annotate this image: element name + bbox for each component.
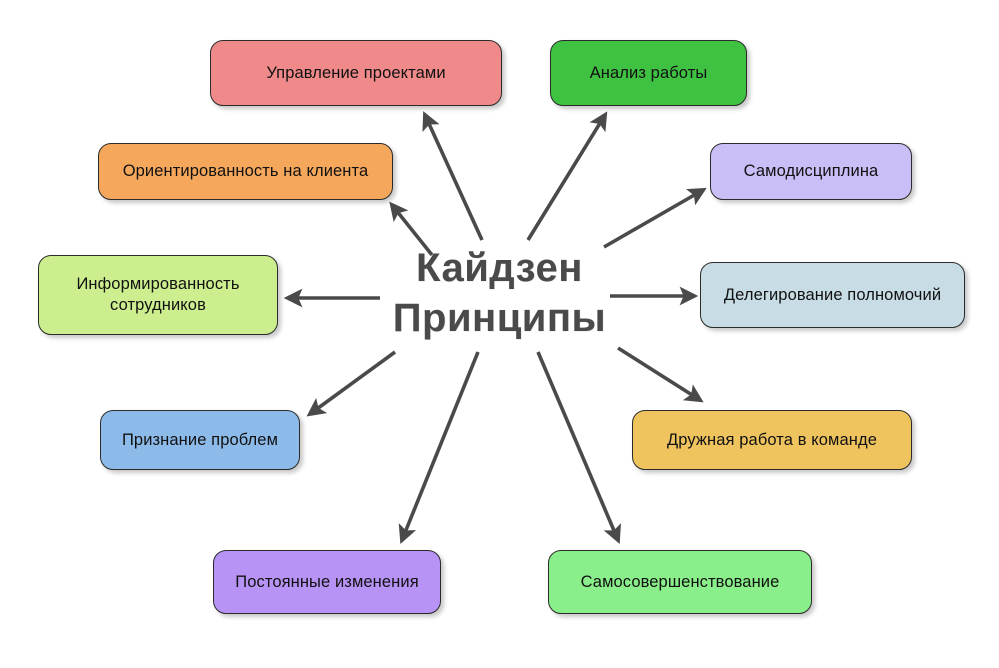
node-self-discipline[interactable]: Самодисциплина xyxy=(710,143,912,200)
node-work-analysis[interactable]: Анализ работы xyxy=(550,40,747,106)
node-label: Дружная работа в команде xyxy=(667,430,877,451)
arrow-to-friendly-teamwork xyxy=(618,348,700,400)
node-self-improvement[interactable]: Самосовершенствование xyxy=(548,550,812,614)
center-label: Кайдзен Принципы xyxy=(0,243,999,343)
node-project-management[interactable]: Управление проектами xyxy=(210,40,502,106)
node-customer-orientation[interactable]: Ориентированность на клиента xyxy=(98,143,393,200)
node-label: Управление проектами xyxy=(266,63,445,84)
node-label: Постоянные изменения xyxy=(235,572,418,593)
node-friendly-teamwork[interactable]: Дружная работа в команде xyxy=(632,410,912,470)
kaizen-principles-diagram: Кайдзен Принципы Управление проектамиАна… xyxy=(0,0,999,668)
node-label: Самосовершенствование xyxy=(581,572,780,593)
node-label: Ориентированность на клиента xyxy=(123,161,369,182)
arrow-to-problem-recognition xyxy=(310,352,395,414)
arrow-to-work-analysis xyxy=(528,115,605,240)
arrow-to-self-discipline xyxy=(604,190,703,247)
arrow-to-constant-changes xyxy=(402,352,478,540)
node-label: Признание проблем xyxy=(122,430,278,451)
node-constant-changes[interactable]: Постоянные изменения xyxy=(213,550,441,614)
node-label: Анализ работы xyxy=(590,63,708,84)
arrow-to-project-management xyxy=(425,115,482,240)
node-problem-recognition[interactable]: Признание проблем xyxy=(100,410,300,470)
node-label: Самодисциплина xyxy=(744,161,879,182)
arrow-to-self-improvement xyxy=(538,352,618,540)
